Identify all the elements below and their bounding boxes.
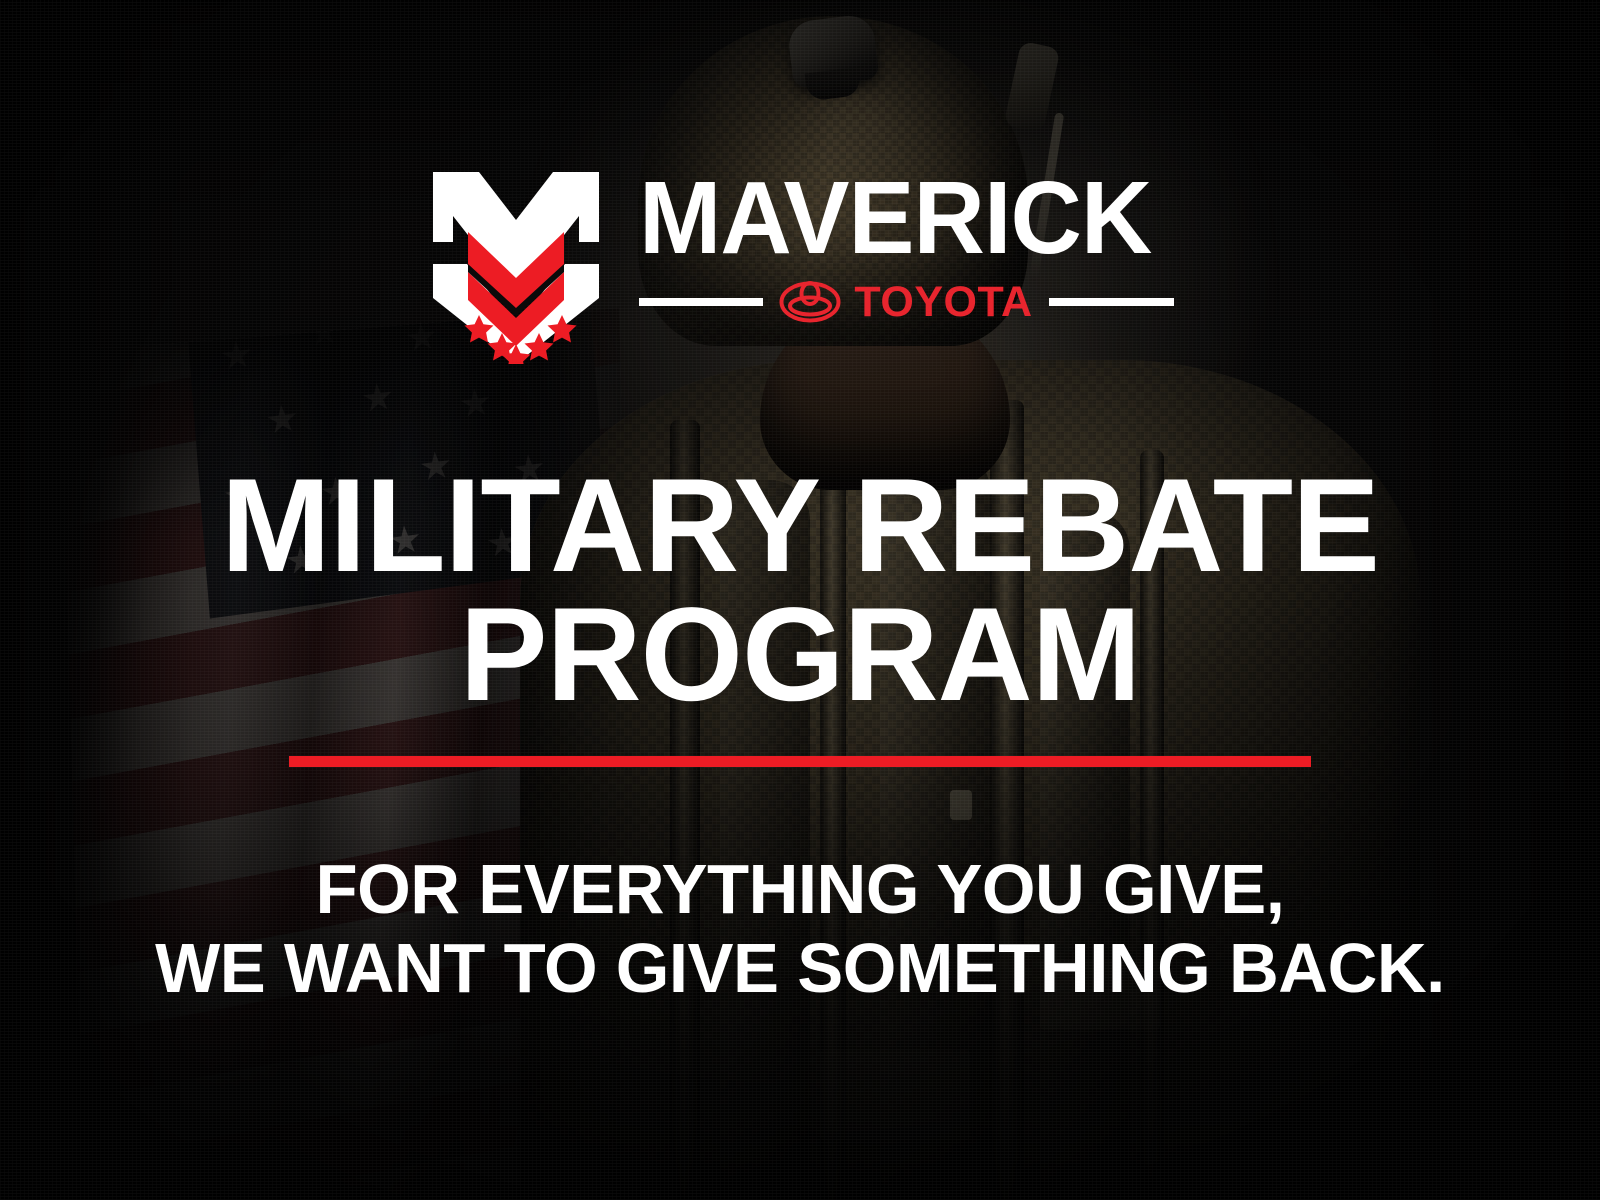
divider-container [0, 756, 1600, 767]
poster-content: MAVERICK TOYOTA [0, 0, 1600, 1200]
headline-line-2: PROGRAM [8, 591, 1592, 720]
tagline-line-1: FOR EVERYTHING YOU GIVE, [12, 850, 1588, 929]
subbar-rule-left [639, 298, 764, 306]
poster-canvas: MAVERICK TOYOTA [0, 0, 1600, 1200]
brand-wordmark: MAVERICK [639, 174, 1153, 263]
page-title: MILITARY REBATE PROGRAM [0, 462, 1600, 720]
headline-line-1: MILITARY REBATE [8, 462, 1592, 591]
toyota-ellipse-logo-icon [779, 281, 841, 323]
red-divider-rule [289, 756, 1311, 767]
tagline-line-2: WE WANT TO GIVE SOMETHING BACK. [12, 929, 1588, 1008]
toyota-wordmark: TOYOTA [854, 281, 1032, 324]
toyota-lockup: TOYOTA [779, 281, 1032, 324]
chevron-rank-emblem-icon [427, 168, 605, 364]
brand-text-block: MAVERICK TOYOTA [639, 168, 1174, 324]
brand-lockup: MAVERICK TOYOTA [0, 168, 1600, 364]
tagline: FOR EVERYTHING YOU GIVE, WE WANT TO GIVE… [0, 850, 1600, 1008]
toyota-subbar: TOYOTA [639, 281, 1174, 324]
subbar-rule-right [1049, 298, 1174, 306]
